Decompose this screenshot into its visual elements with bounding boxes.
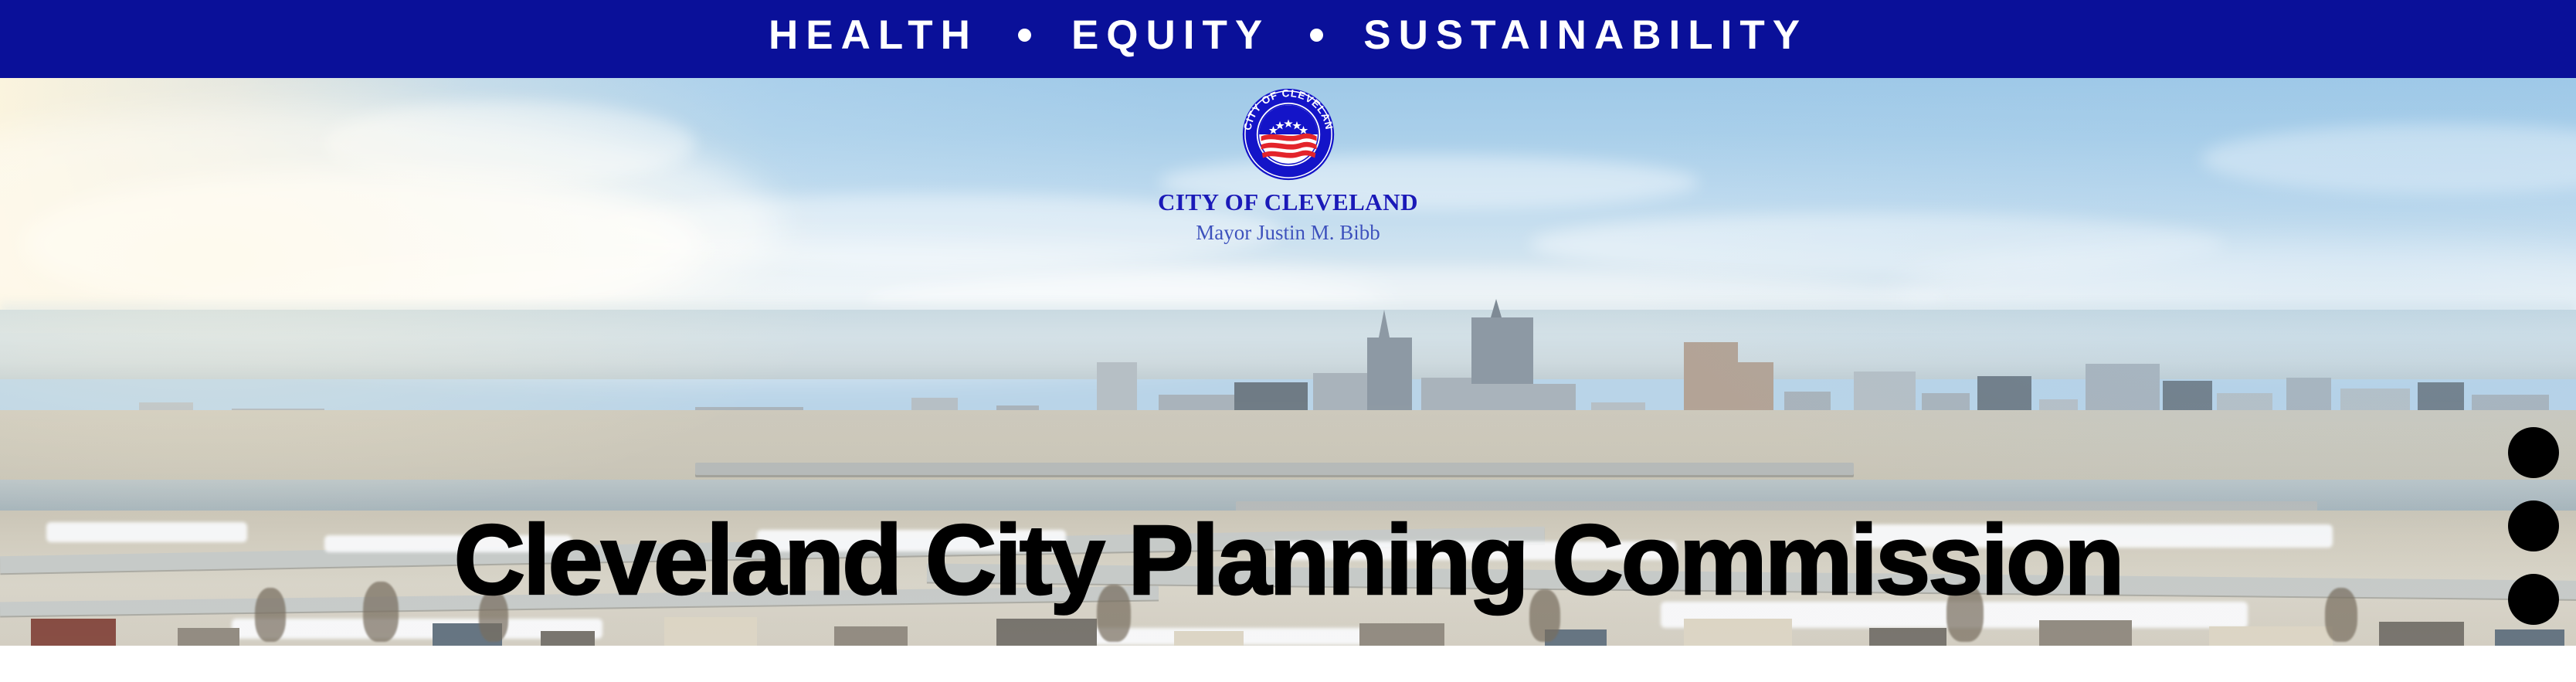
hero-photo: CITY OF CLEVELAND OHIO CIT — [0, 78, 2576, 646]
tagline-banner: HEALTH EQUITY SUSTAINABILITY — [0, 0, 2576, 78]
youtube-icon — [2508, 427, 2559, 478]
bottom-white-strip — [0, 646, 2576, 682]
tagline-banner-inner: HEALTH EQUITY SUSTAINABILITY — [769, 15, 1807, 56]
page-root: HEALTH EQUITY SUSTAINABILITY — [0, 0, 2576, 682]
tagline-word-health: HEALTH — [769, 15, 978, 56]
bullet-dot-icon — [1310, 29, 1323, 42]
youtube-link[interactable] — [2508, 427, 2559, 478]
tagline-word-sustainability: SUSTAINABILITY — [1363, 15, 1807, 56]
bridge — [695, 463, 1854, 475]
city-name-label: CITY OF CLEVELAND — [1158, 190, 1418, 214]
instagram-icon — [2508, 500, 2559, 551]
instagram-link[interactable] — [2508, 500, 2559, 551]
city-of-cleveland-seal-icon: CITY OF CLEVELAND OHIO — [1241, 87, 1336, 182]
page-title: Cleveland City Planning Commission — [0, 511, 2576, 610]
tagline-word-equity: EQUITY — [1071, 15, 1270, 56]
facebook-link[interactable] — [2508, 574, 2559, 625]
mayor-name-label: Mayor Justin M. Bibb — [1196, 222, 1380, 243]
social-links-rail[interactable] — [2508, 427, 2559, 625]
city-logo-block: CITY OF CLEVELAND OHIO CIT — [0, 78, 2576, 243]
facebook-icon — [2508, 574, 2559, 625]
bullet-dot-icon — [1018, 29, 1031, 42]
